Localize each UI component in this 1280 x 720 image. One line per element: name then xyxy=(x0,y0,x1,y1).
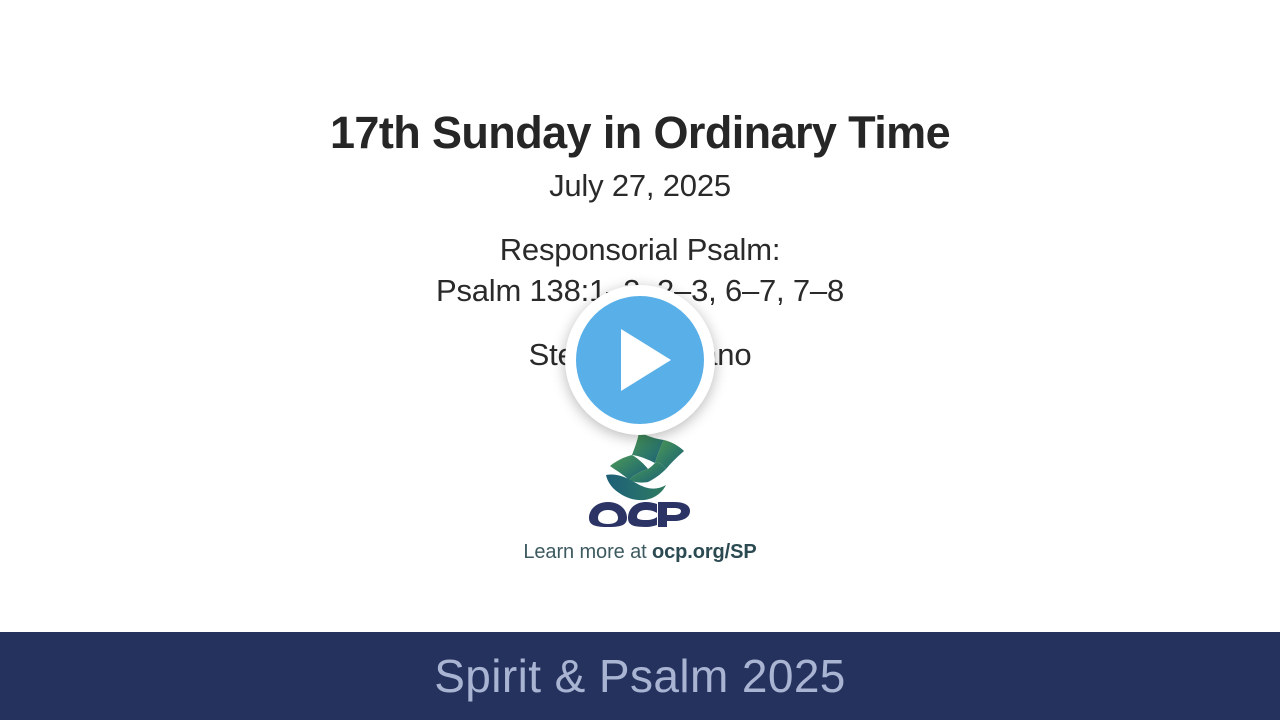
psalm-label: Responsorial Psalm: xyxy=(436,230,844,270)
learn-more-text: Learn more at ocp.org/SP xyxy=(523,541,756,564)
series-band: Spirit & Psalm 2025 xyxy=(0,632,1280,720)
ocp-logo-icon xyxy=(584,429,696,527)
series-title: Spirit & Psalm 2025 xyxy=(434,649,846,703)
ocp-url-link[interactable]: ocp.org/SP xyxy=(652,541,757,563)
slide-date: July 27, 2025 xyxy=(549,168,731,204)
page-title: 17th Sunday in Ordinary Time xyxy=(330,108,950,158)
brand-logo-block: Learn more at ocp.org/SP xyxy=(523,429,756,564)
video-player-frame[interactable]: 17th Sunday in Ordinary Time July 27, 20… xyxy=(0,0,1280,720)
play-button[interactable] xyxy=(565,285,715,435)
play-button-disc[interactable] xyxy=(576,296,704,424)
play-triangle-icon xyxy=(621,329,671,391)
learn-more-prefix: Learn more at xyxy=(523,541,652,563)
